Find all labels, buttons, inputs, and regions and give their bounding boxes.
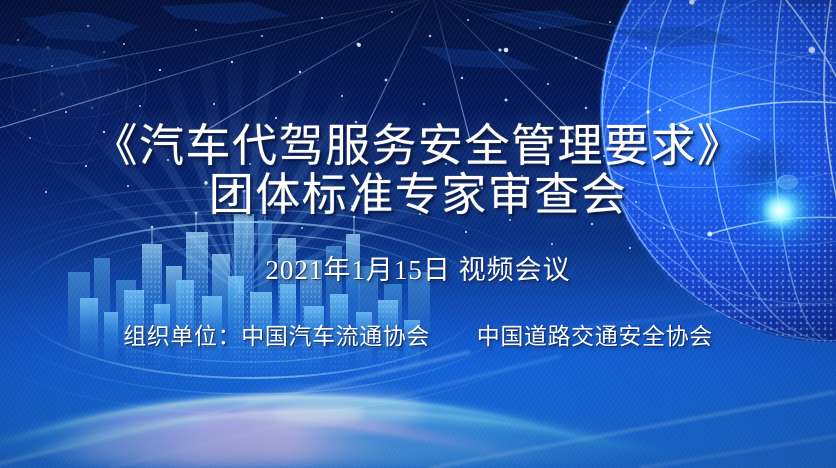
meeting-date-and-format: 2021年1月15日 视频会议 <box>0 254 836 287</box>
organizer-secondary: 中国道路交通安全协会 <box>477 324 713 349</box>
organizer-primary: 组织单位：中国汽车流通协会 <box>123 324 430 349</box>
title-line-1: 《汽车代驾服务安全管理要求》 <box>0 122 836 171</box>
organizer-line: 组织单位：中国汽车流通协会 中国道路交通安全协会 <box>0 322 836 351</box>
conference-title-slide: 《汽车代驾服务安全管理要求》 团体标准专家审查会 2021年1月15日 视频会议… <box>0 0 836 468</box>
title-line-2: 团体标准专家审查会 <box>0 171 836 220</box>
slide-title: 《汽车代驾服务安全管理要求》 团体标准专家审查会 <box>0 122 836 220</box>
